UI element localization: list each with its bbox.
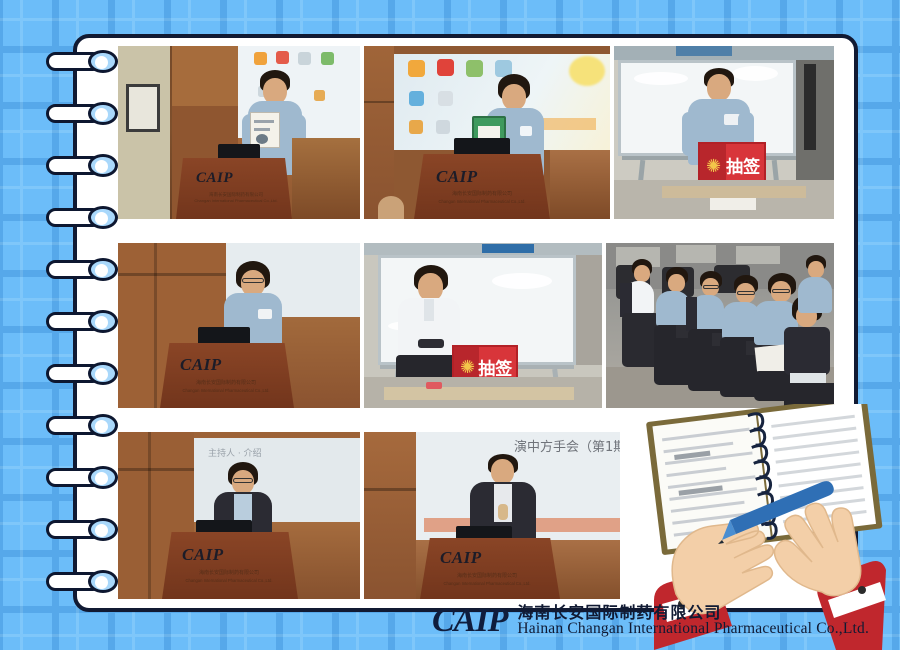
slide-title: 演中方手会（第1期） [514,436,620,455]
lottery-box-label: 抽签 [478,355,512,380]
photo-7: 主持人 · 介绍 CAIP 海南长安国际制药有限公司 Changan Inter… [118,432,360,599]
company-footer: CAIP 海南长安国际制药有限公司 Hainan Changan Interna… [432,604,869,638]
podium-subtitle-en: Changan International Pharmaceutical Co.… [432,582,542,587]
photo-4: CAIP 海南长安国际制药有限公司 Changan International … [118,243,360,408]
slide-title: 主持人 · 介绍 [208,446,262,459]
photo-2: CAIP 海南长安国际制药有限公司 Changan International … [364,46,610,219]
podium-subtitle-en: Changan International Pharmaceutical Co.… [428,200,536,205]
podium-subtitle-en: Changan International Pharmaceutical Co.… [172,389,280,394]
company-name-en: Hainan Changan International Pharmaceuti… [517,621,869,638]
podium-subtitle: 海南长安国际制药有限公司 [430,192,534,198]
podium-subtitle: 海南长安国际制药有限公司 [174,381,278,387]
lottery-box-label: 抽签 [726,153,760,178]
photo-1: CAIP 海南长安国际制药有限公司 Changan International … [118,46,360,219]
slide-canvas: CAIP 海南长安国际制药有限公司 Changan International … [0,0,900,650]
podium-logo: CAIP [440,548,482,568]
podium-subtitle: 海南长安国际制药有限公司 [190,192,282,197]
podium-logo: CAIP [182,545,224,565]
photo-3: ✺ 抽签 [614,46,834,219]
photo-8: 演中方手会（第1期） CAIP 海南长安国际制药有限公司 Changan Int [364,432,620,599]
podium-logo: CAIP [436,167,478,187]
photo-row-2: CAIP 海南长安国际制药有限公司 Changan International … [118,243,834,408]
podium-logo: CAIP [180,355,222,375]
podium-subtitle: 海南长安国际制药有限公司 [176,571,282,577]
caip-logo: CAIP [432,604,507,638]
podium-subtitle: 海南长安国际制药有限公司 [434,574,540,580]
company-name-cn: 海南长安国际制药有限公司 [517,604,869,621]
photo-6 [606,243,834,408]
photo-5: ✺ 抽签 [364,243,602,408]
photo-row-1: CAIP 海南长安国际制药有限公司 Changan International … [118,46,834,219]
podium-logo: CAIP [196,170,233,187]
podium-subtitle-en: Changan International Pharmaceutical Co.… [174,579,284,584]
podium-subtitle-en: Changan International Pharmaceutical Co.… [188,199,284,204]
